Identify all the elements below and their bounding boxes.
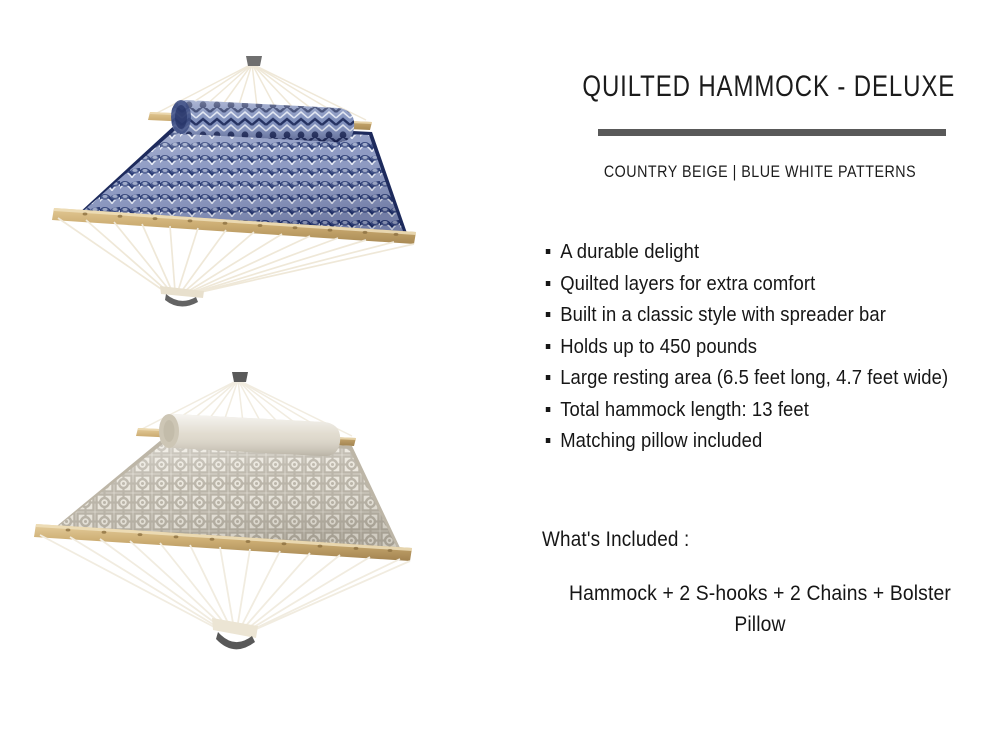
product-photo-column	[0, 0, 520, 750]
list-item: Matching pillow included	[544, 429, 951, 452]
beige-hammock-illustration	[0, 360, 520, 700]
whats-included-contents: Hammock + 2 S-hooks + 2 Chains + Bolster…	[552, 578, 968, 640]
title-divider-rule	[598, 129, 946, 136]
product-copy-column: QUILTED HAMMOCK - DELUXE COUNTRY BEIGE |…	[520, 0, 1000, 750]
upper-hardware-clevis	[246, 56, 262, 66]
product-subtitle: COUNTRY BEIGE | BLUE WHITE PATTERNS	[574, 162, 947, 182]
list-item: Holds up to 450 pounds	[544, 335, 951, 358]
product-infographic: QUILTED HAMMOCK - DELUXE COUNTRY BEIGE |…	[0, 0, 1000, 750]
list-item: Built in a classic style with spreader b…	[544, 303, 951, 326]
product-photo-blue-hammock	[0, 48, 520, 378]
whats-included-heading: What's Included :	[542, 528, 689, 552]
page-title: QUILTED HAMMOCK - DELUXE	[582, 70, 937, 104]
list-item: Large resting area (6.5 feet long, 4.7 f…	[544, 366, 951, 389]
blue-hammock-illustration	[0, 48, 520, 378]
list-item: Total hammock length: 13 feet	[544, 398, 951, 421]
list-item: Quilted layers for extra comfort	[544, 272, 951, 295]
list-item: A durable delight	[544, 240, 951, 263]
product-photo-beige-hammock	[0, 360, 520, 700]
upper-hardware-clevis	[232, 372, 248, 382]
feature-list: A durable delight Quilted layers for ext…	[544, 240, 996, 461]
